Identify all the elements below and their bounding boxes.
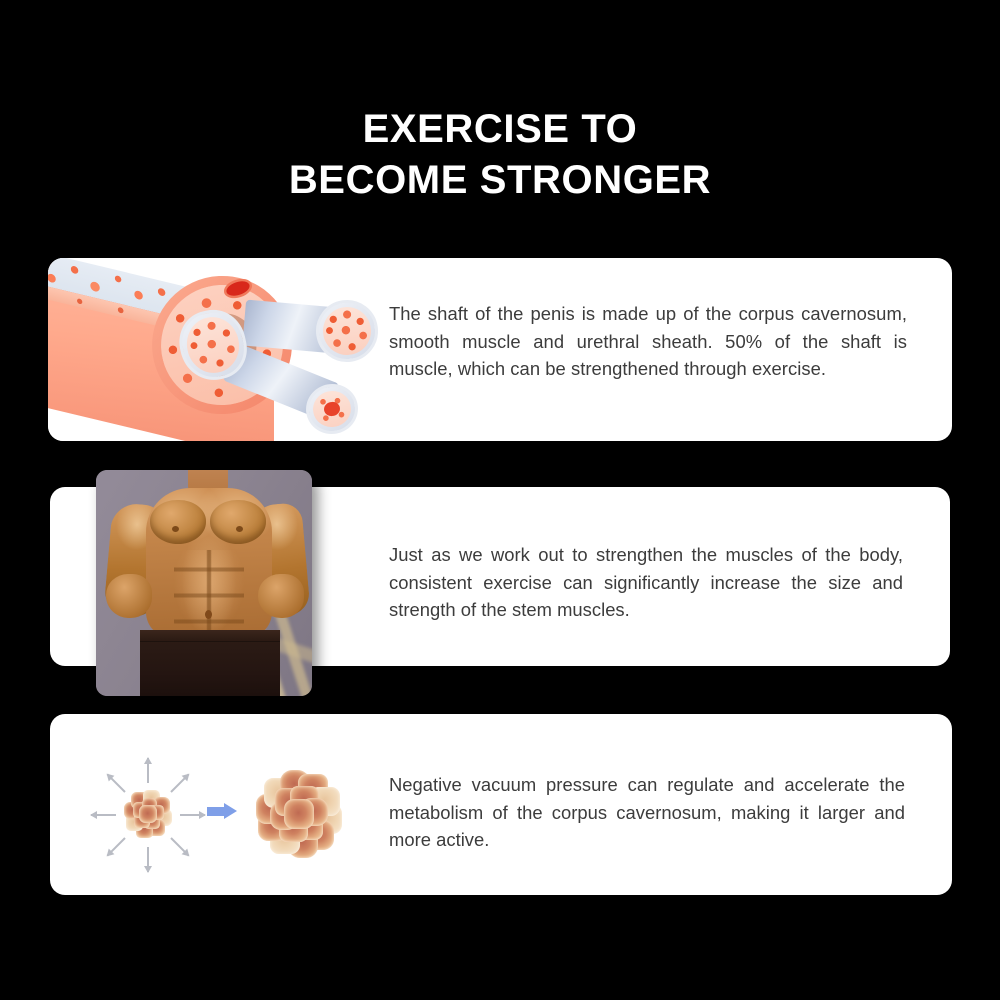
- vacuum-arrow-icon: [147, 847, 149, 872]
- vacuum-arrow-icon: [170, 837, 189, 856]
- left-pectoral: [150, 500, 206, 544]
- left-nipple: [172, 526, 179, 532]
- title-line-2: BECOME STRONGER: [0, 155, 1000, 206]
- left-fist: [106, 574, 152, 618]
- cavernosum-spongy-fill-right: [320, 304, 374, 358]
- vacuum-arrow-icon: [107, 774, 126, 793]
- urethra-spongy-fill: [310, 388, 354, 430]
- infographic-poster: EXERCISE TO BECOME STRONGER: [0, 0, 1000, 1000]
- navel: [205, 610, 212, 619]
- right-fist: [258, 574, 304, 618]
- card-3-description: Negative vacuum pressure can regulate an…: [389, 771, 905, 854]
- transformation-arrow-icon: [207, 805, 237, 818]
- abdominal-muscles: [174, 550, 244, 632]
- cavernosum-spongy-fill-left: [182, 312, 245, 378]
- large-cell-cluster: [253, 768, 345, 860]
- card-1-description: The shaft of the penis is made up of the…: [389, 300, 907, 383]
- anatomy-stage: [48, 258, 378, 441]
- urethra-lumen: [323, 401, 341, 418]
- vacuum-arrow-icon: [147, 758, 149, 783]
- arrow-head: [224, 803, 237, 819]
- bodybuilder-torso-photo: [96, 470, 312, 696]
- shorts: [140, 630, 280, 696]
- page-title: EXERCISE TO BECOME STRONGER: [0, 104, 1000, 206]
- vacuum-arrow-icon: [107, 837, 126, 856]
- card-2-description: Just as we work out to strengthen the mu…: [389, 541, 903, 624]
- right-nipple: [236, 526, 243, 532]
- cell: [139, 805, 157, 823]
- cell: [284, 799, 314, 829]
- right-pectoral: [210, 500, 266, 544]
- title-line-1: EXERCISE TO: [0, 104, 1000, 155]
- cell-expansion-diagram: [90, 745, 360, 885]
- vacuum-arrow-icon: [170, 774, 189, 793]
- shorts-waistband: [140, 630, 280, 642]
- vacuum-arrow-icon: [180, 814, 205, 816]
- vacuum-arrow-icon: [91, 814, 116, 816]
- small-cell-cluster: [122, 788, 174, 840]
- penis-cross-section-illustration: [48, 258, 378, 441]
